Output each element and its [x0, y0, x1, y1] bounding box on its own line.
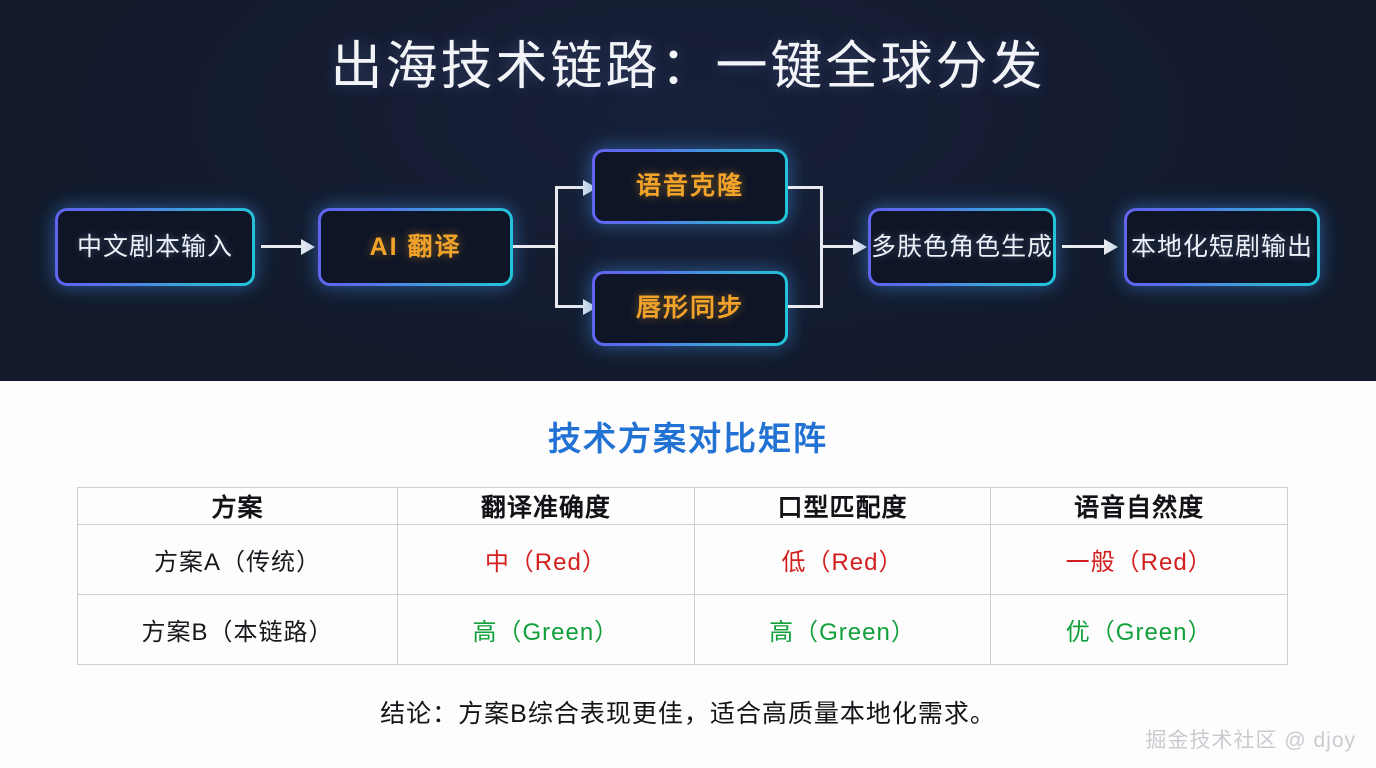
connector-input-to-translate [261, 245, 303, 248]
flow-node-skintone-label: 多肤色角色生成 [871, 233, 1053, 262]
connector-fork-stem [513, 245, 557, 248]
plan-b-translation-value: 高（Green） [472, 619, 619, 646]
page-title: 出海技术链路：一键全球分发 [0, 24, 1376, 99]
slide-root: 出海技术链路：一键全球分发 中文剧本输入 AI 翻译 语音克隆 [0, 0, 1376, 768]
flow-node-lipsync-inner: 唇形同步 [595, 274, 785, 343]
table-cell-plan-b-translation: 高（Green） [398, 595, 695, 665]
matrix-title: 技术方案对比矩阵 [0, 412, 1376, 460]
table-header-cell-plan: 方案 [78, 488, 398, 525]
connector-merge-bottom [788, 305, 823, 308]
connector-fork-spine [555, 186, 558, 308]
table-row: 方案A（传统） 中（Red） 低（Red） 一般（Red） [78, 525, 1288, 595]
flow-node-skintone[interactable]: 多肤色角色生成 [868, 208, 1056, 286]
table-body: 方案A（传统） 中（Red） 低（Red） 一般（Red） 方案B（本链路） [78, 525, 1288, 665]
table-cell-plan-b-lipsync: 高（Green） [694, 595, 991, 665]
watermark: 掘金技术社区 @ djoy [1145, 724, 1356, 754]
flow-node-translate[interactable]: AI 翻译 [318, 208, 513, 286]
plan-b-voice-value: 优（Green） [1066, 619, 1213, 646]
comparison-table: 方案 翻译准确度 口型匹配度 语音自然度 方案A（传统） [77, 487, 1288, 665]
table-header-row: 方案 翻译准确度 口型匹配度 语音自然度 [78, 488, 1288, 525]
table-cell-plan-b-voice: 优（Green） [991, 595, 1288, 665]
table-cell-plan-b-name: 方案B（本链路） [78, 595, 398, 665]
plan-b-lipsync-value: 高（Green） [769, 619, 916, 646]
flow-node-output-label: 本地化短剧输出 [1131, 233, 1313, 262]
connector-skintone-to-output [1062, 245, 1106, 248]
flow-node-voice-clone-inner: 语音克隆 [595, 152, 785, 221]
flow-node-voice-clone-label: 语音克隆 [636, 172, 744, 201]
table-header-cell-translation: 翻译准确度 [398, 488, 695, 525]
arrowhead-translate [301, 239, 315, 255]
table-row: 方案B（本链路） 高（Green） 高（Green） 优（Green） [78, 595, 1288, 665]
connector-fork-top [555, 186, 585, 189]
flow-node-translate-inner: AI 翻译 [321, 211, 510, 283]
flow-node-lipsync[interactable]: 唇形同步 [592, 271, 788, 346]
flow-node-skintone-inner: 多肤色角色生成 [871, 211, 1053, 283]
table-header-label-voice: 语音自然度 [1074, 494, 1204, 522]
arrowhead-output [1104, 239, 1118, 255]
flow-node-input[interactable]: 中文剧本输入 [55, 208, 255, 286]
table-header-cell-lipsync: 口型匹配度 [694, 488, 991, 525]
table-cell-plan-a-translation: 中（Red） [398, 525, 695, 595]
flow-node-output[interactable]: 本地化短剧输出 [1124, 208, 1320, 286]
table-head: 方案 翻译准确度 口型匹配度 语音自然度 [78, 488, 1288, 525]
table-header-label-lipsync: 口型匹配度 [777, 494, 907, 522]
flow-node-lipsync-label: 唇形同步 [636, 294, 744, 323]
table-header-cell-voice: 语音自然度 [991, 488, 1288, 525]
connector-merge-stem [820, 245, 855, 248]
plan-b-label: 方案B（本链路） [141, 619, 333, 646]
flow-node-input-inner: 中文剧本输入 [58, 211, 252, 283]
connector-merge-top [788, 186, 823, 189]
arrowhead-skintone [853, 239, 867, 255]
connector-fork-bottom [555, 305, 585, 308]
plan-a-label: 方案A（传统） [154, 549, 321, 576]
flow-node-input-label: 中文剧本输入 [77, 233, 233, 262]
hero-panel: 出海技术链路：一键全球分发 中文剧本输入 AI 翻译 语音克隆 [0, 0, 1376, 381]
table-cell-plan-a-lipsync: 低（Red） [694, 525, 991, 595]
flow-node-translate-label: AI 翻译 [370, 233, 462, 262]
table-header-label-plan: 方案 [211, 494, 263, 522]
table-cell-plan-a-name: 方案A（传统） [78, 525, 398, 595]
plan-a-voice-value: 一般（Red） [1066, 549, 1213, 576]
plan-a-lipsync-value: 低（Red） [781, 549, 903, 576]
table-cell-plan-a-voice: 一般（Red） [991, 525, 1288, 595]
flow-node-voice-clone[interactable]: 语音克隆 [592, 149, 788, 224]
flow-node-output-inner: 本地化短剧输出 [1127, 211, 1317, 283]
plan-a-translation-value: 中（Red） [485, 549, 607, 576]
comparison-panel: 技术方案对比矩阵 方案 翻译准确度 口型匹配度 语音自然度 [0, 381, 1376, 768]
table-header-label-translation: 翻译准确度 [481, 494, 611, 522]
